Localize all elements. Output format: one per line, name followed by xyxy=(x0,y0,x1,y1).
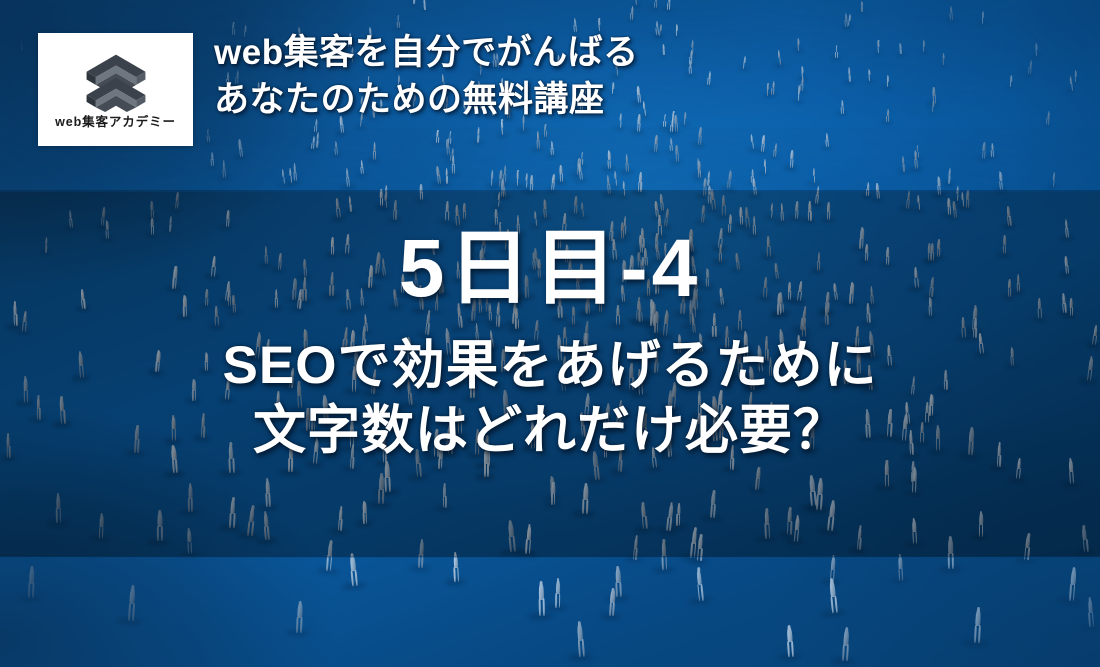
brand-logo-caption: web集客アカデミー xyxy=(55,116,176,129)
brand-logo-box: web集客アカデミー xyxy=(38,33,193,146)
header-tagline-line1: web集客を自分でがんばる xyxy=(214,30,854,77)
hexagon-interlock-logo-icon xyxy=(77,50,155,112)
page-title: 5日目-4 xyxy=(0,228,1100,310)
page-subtitle: SEOで効果をあげるために 文字数はどれだけ必要？ xyxy=(0,334,1100,463)
header-tagline: web集客を自分でがんばる あなたのための無料講座 xyxy=(214,30,854,124)
header-tagline-line2: あなたのための無料講座 xyxy=(214,77,854,124)
slide-canvas: web集客アカデミー web集客を自分でがんばる あなたのための無料講座 5日目… xyxy=(0,0,1100,667)
page-subtitle-line2: 文字数はどれだけ必要？ xyxy=(0,399,1100,464)
title-block: 5日目-4 SEOで効果をあげるために 文字数はどれだけ必要？ xyxy=(0,228,1100,463)
page-subtitle-line1: SEOで効果をあげるために xyxy=(0,334,1100,399)
